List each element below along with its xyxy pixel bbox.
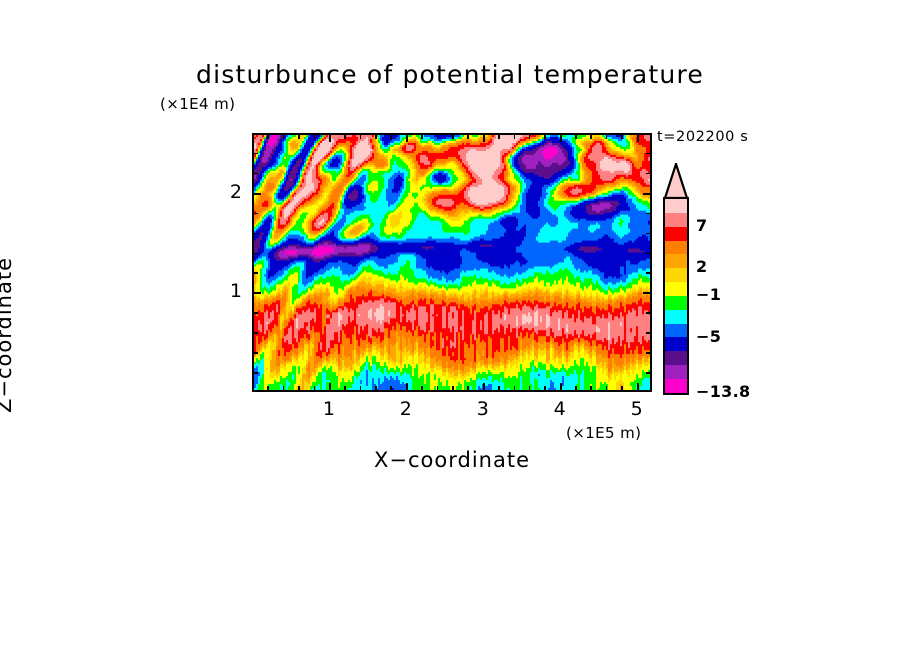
colorbar-bands [663,197,689,395]
y-tick-minor [646,153,652,155]
x-tick-minor [544,133,546,139]
x-tick-minor [390,133,392,139]
y-tick-minor [646,213,652,215]
y-tick-minor [646,372,652,374]
x-tick-minor [514,386,516,392]
y-tick-minor [252,253,258,255]
x-tick-major [406,383,408,392]
chart-title-text: disturbunce of potential temperature [196,60,704,89]
x-tick-label: 4 [540,398,580,420]
x-tick-minor [421,386,423,392]
colorbar-arrow-icon [663,163,689,199]
x-tick-minor [283,133,285,139]
x-tick-minor [467,386,469,392]
time-annotation: t=202200 s [657,129,748,145]
y-axis-title: Z−coordinate [0,185,16,485]
y-tick-minor [252,332,258,334]
x-tick-minor [606,133,608,139]
x-tick-minor [437,386,439,392]
x-tick-minor [452,386,454,392]
x-tick-minor [529,386,531,392]
x-tick-minor [267,133,269,139]
x-tick-major-top [560,133,562,142]
x-tick-major-top [483,133,485,142]
colorbar-tick-label: −5 [696,327,721,346]
colorbar-tip-shape [665,164,687,198]
x-tick-minor [314,133,316,139]
x-tick-minor [344,133,346,139]
x-axis-title: X−coordinate [252,448,652,472]
colorbar-band [665,254,687,268]
x-tick-minor [421,133,423,139]
colorbar-band [665,324,687,338]
y-tick-minor [252,312,258,314]
plot-area [252,133,652,392]
colorbar-tick-label: −1 [696,285,721,304]
colorbar-band [665,282,687,296]
y-tick-major [252,193,261,195]
x-tick-major [329,383,331,392]
colorbar-band [665,379,687,393]
x-tick-minor [314,386,316,392]
x-axis-unit-label: (×1E5 m) [566,424,641,442]
colorbar-band [665,296,687,310]
x-tick-minor [590,386,592,392]
x-tick-label: 2 [386,398,426,420]
colorbar-band [665,227,687,241]
y-tick-minor [646,253,652,255]
contour-field [254,135,650,390]
colorbar-tick-label: 2 [696,257,707,276]
y-tick-major [643,292,652,294]
x-tick-minor [621,386,623,392]
y-tick-minor [646,312,652,314]
y-tick-minor [646,332,652,334]
y-tick-minor [646,352,652,354]
x-tick-major [637,383,639,392]
colorbar-band [665,199,687,213]
x-tick-minor [590,133,592,139]
colorbar [663,163,689,395]
x-tick-minor [529,133,531,139]
colorbar-band [665,351,687,365]
x-tick-minor [283,386,285,392]
x-tick-minor [360,386,362,392]
x-tick-minor [267,386,269,392]
y-tick-minor [252,213,258,215]
x-tick-minor [298,386,300,392]
y-tick-major [643,193,652,195]
x-tick-major-top [329,133,331,142]
x-tick-minor [498,386,500,392]
colorbar-tick-label: −13.8 [696,382,750,401]
x-tick-minor [375,133,377,139]
y-tick-minor [252,352,258,354]
colorbar-band [665,310,687,324]
x-tick-label: 5 [617,398,657,420]
colorbar-tick-label: 7 [696,216,707,235]
y-tick-minor [646,233,652,235]
x-tick-major-top [406,133,408,142]
y-tick-major [252,292,261,294]
colorbar-band [665,213,687,227]
x-tick-minor [544,386,546,392]
colorbar-band [665,337,687,351]
x-tick-minor [498,133,500,139]
x-tick-major [483,383,485,392]
x-tick-minor [575,386,577,392]
x-tick-minor [514,133,516,139]
x-tick-minor [467,133,469,139]
x-tick-minor [437,133,439,139]
plot-frame [252,133,652,392]
y-axis-unit-label: (×1E4 m) [160,95,235,113]
x-tick-minor [621,133,623,139]
x-tick-major [560,383,562,392]
x-tick-minor [606,386,608,392]
colorbar-band [665,241,687,255]
page-title: disturbunce of potential temperature [0,60,904,89]
y-tick-minor [252,153,258,155]
x-tick-minor [452,133,454,139]
x-tick-minor [344,386,346,392]
x-tick-minor [298,133,300,139]
x-tick-minor [575,133,577,139]
y-tick-minor [252,372,258,374]
x-tick-major-top [637,133,639,142]
colorbar-band [665,365,687,379]
x-tick-minor [360,133,362,139]
y-tick-minor [646,173,652,175]
x-tick-minor [390,386,392,392]
x-tick-minor [375,386,377,392]
y-tick-minor [252,173,258,175]
y-tick-minor [646,272,652,274]
x-tick-label: 3 [463,398,503,420]
y-tick-minor [252,233,258,235]
colorbar-band [665,268,687,282]
y-tick-label: 2 [202,181,242,203]
y-tick-label: 1 [202,280,242,302]
y-tick-minor [252,272,258,274]
x-tick-label: 1 [309,398,349,420]
